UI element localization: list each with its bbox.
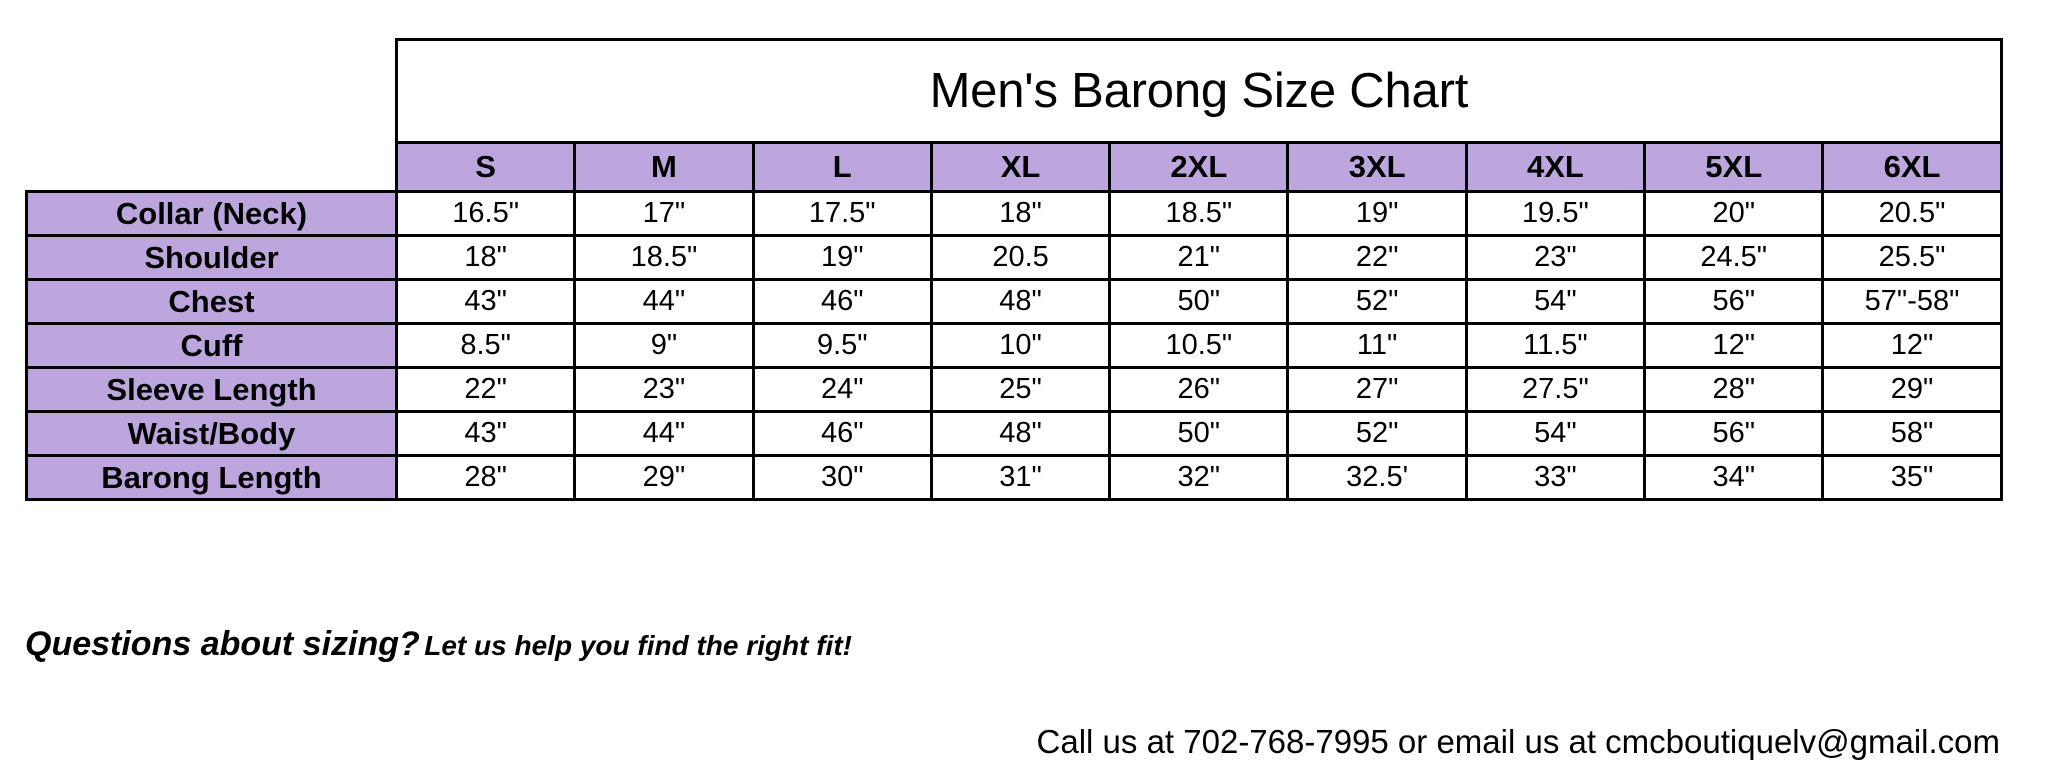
table-row: Shoulder18"18.5"19"20.521"22"23"24.5"25.… <box>27 236 2002 280</box>
table-row: Cuff8.5"9"9.5"10"10.5"11"11.5"12"12" <box>27 324 2002 368</box>
measurement-cell: 18" <box>931 192 1109 236</box>
measurement-cell: 17.5" <box>753 192 931 236</box>
cta-light-text: Let us help you find the right fit! <box>424 630 852 661</box>
measurement-cell: 44" <box>575 412 753 456</box>
measurement-cell: 20.5 <box>931 236 1109 280</box>
size-column-header: 2XL <box>1110 143 1288 192</box>
measurement-cell: 12" <box>1823 324 2001 368</box>
measurement-cell: 27" <box>1288 368 1466 412</box>
measurement-cell: 9" <box>575 324 753 368</box>
table-row: Waist/Body43"44"46"48"50"52"54"56"58" <box>27 412 2002 456</box>
page-title: Men's Barong Size Chart <box>397 40 2002 143</box>
measurement-cell: 25.5" <box>1823 236 2001 280</box>
table-row: Sleeve Length22"23"24"25"26"27"27.5"28"2… <box>27 368 2002 412</box>
size-column-header: XL <box>931 143 1109 192</box>
measurement-cell: 22" <box>397 368 575 412</box>
measurement-cell: 10.5" <box>1110 324 1288 368</box>
size-column-header: L <box>753 143 931 192</box>
measurement-cell: 20.5" <box>1823 192 2001 236</box>
measurement-cell: 23" <box>1466 236 1644 280</box>
size-header-row: SMLXL2XL3XL4XL5XL6XL <box>27 143 2002 192</box>
measurement-row-label: Cuff <box>27 324 397 368</box>
measurement-cell: 34" <box>1645 456 1823 500</box>
measurement-cell: 57"-58" <box>1823 280 2001 324</box>
size-column-header: 6XL <box>1823 143 2001 192</box>
measurement-row-label: Shoulder <box>27 236 397 280</box>
measurement-cell: 26" <box>1110 368 1288 412</box>
measurement-cell: 56" <box>1645 412 1823 456</box>
measurement-cell: 19.5" <box>1466 192 1644 236</box>
measurement-cell: 10" <box>931 324 1109 368</box>
size-column-header: 5XL <box>1645 143 1823 192</box>
measurement-cell: 18" <box>397 236 575 280</box>
measurement-cell: 46" <box>753 412 931 456</box>
measurement-cell: 19" <box>753 236 931 280</box>
measurement-cell: 29" <box>1823 368 2001 412</box>
measurement-cell: 20" <box>1645 192 1823 236</box>
footer-contact-text: Call us at 702-768-7995 or email us at c… <box>1037 723 2000 761</box>
measurement-cell: 52" <box>1288 280 1466 324</box>
size-column-header: M <box>575 143 753 192</box>
measurement-cell: 11" <box>1288 324 1466 368</box>
footer-cta: Questions about sizing? Let us help you … <box>25 625 852 664</box>
measurement-row-label: Barong Length <box>27 456 397 500</box>
measurement-cell: 23" <box>575 368 753 412</box>
measurement-cell: 48" <box>931 412 1109 456</box>
measurement-row-label: Collar (Neck) <box>27 192 397 236</box>
chart-title-row: Men's Barong Size Chart <box>27 40 2002 143</box>
table-row: Barong Length28"29"30"31"32"32.5'33"34"3… <box>27 456 2002 500</box>
measurement-cell: 35" <box>1823 456 2001 500</box>
table-row: Collar (Neck)16.5"17"17.5"18"18.5"19"19.… <box>27 192 2002 236</box>
measurement-cell: 58" <box>1823 412 2001 456</box>
measurement-row-label: Chest <box>27 280 397 324</box>
measurement-cell: 9.5" <box>753 324 931 368</box>
measurement-cell: 46" <box>753 280 931 324</box>
measurement-cell: 18.5" <box>575 236 753 280</box>
measurement-cell: 16.5" <box>397 192 575 236</box>
measurement-cell: 24.5" <box>1645 236 1823 280</box>
measurement-cell: 30" <box>753 456 931 500</box>
measurement-cell: 8.5" <box>397 324 575 368</box>
measurement-cell: 54" <box>1466 412 1644 456</box>
measurement-cell: 27.5" <box>1466 368 1644 412</box>
measurement-cell: 43" <box>397 280 575 324</box>
title-row-spacer <box>27 40 397 143</box>
measurement-cell: 31" <box>931 456 1109 500</box>
measurement-cell: 17" <box>575 192 753 236</box>
measurement-cell: 28" <box>1645 368 1823 412</box>
measurement-cell: 32.5' <box>1288 456 1466 500</box>
measurement-cell: 52" <box>1288 412 1466 456</box>
measurement-cell: 56" <box>1645 280 1823 324</box>
measurement-cell: 33" <box>1466 456 1644 500</box>
measurement-cell: 50" <box>1110 280 1288 324</box>
measurement-cell: 48" <box>931 280 1109 324</box>
measurement-row-label: Waist/Body <box>27 412 397 456</box>
header-corner-spacer <box>27 143 397 192</box>
measurement-cell: 54" <box>1466 280 1644 324</box>
measurement-cell: 24" <box>753 368 931 412</box>
measurement-cell: 12" <box>1645 324 1823 368</box>
measurement-cell: 29" <box>575 456 753 500</box>
measurement-cell: 21" <box>1110 236 1288 280</box>
size-column-header: 4XL <box>1466 143 1644 192</box>
cta-strong-text: Questions about sizing? <box>25 625 420 663</box>
measurement-cell: 19" <box>1288 192 1466 236</box>
measurement-cell: 22" <box>1288 236 1466 280</box>
measurement-cell: 28" <box>397 456 575 500</box>
measurement-cell: 44" <box>575 280 753 324</box>
measurement-cell: 32" <box>1110 456 1288 500</box>
measurement-cell: 43" <box>397 412 575 456</box>
table-row: Chest43"44"46"48"50"52"54"56"57"-58" <box>27 280 2002 324</box>
measurement-cell: 18.5" <box>1110 192 1288 236</box>
size-column-header: 3XL <box>1288 143 1466 192</box>
size-chart-table: Men's Barong Size ChartSMLXL2XL3XL4XL5XL… <box>25 38 2003 501</box>
measurement-cell: 50" <box>1110 412 1288 456</box>
size-column-header: S <box>397 143 575 192</box>
measurement-cell: 25" <box>931 368 1109 412</box>
measurement-cell: 11.5" <box>1466 324 1644 368</box>
measurement-row-label: Sleeve Length <box>27 368 397 412</box>
